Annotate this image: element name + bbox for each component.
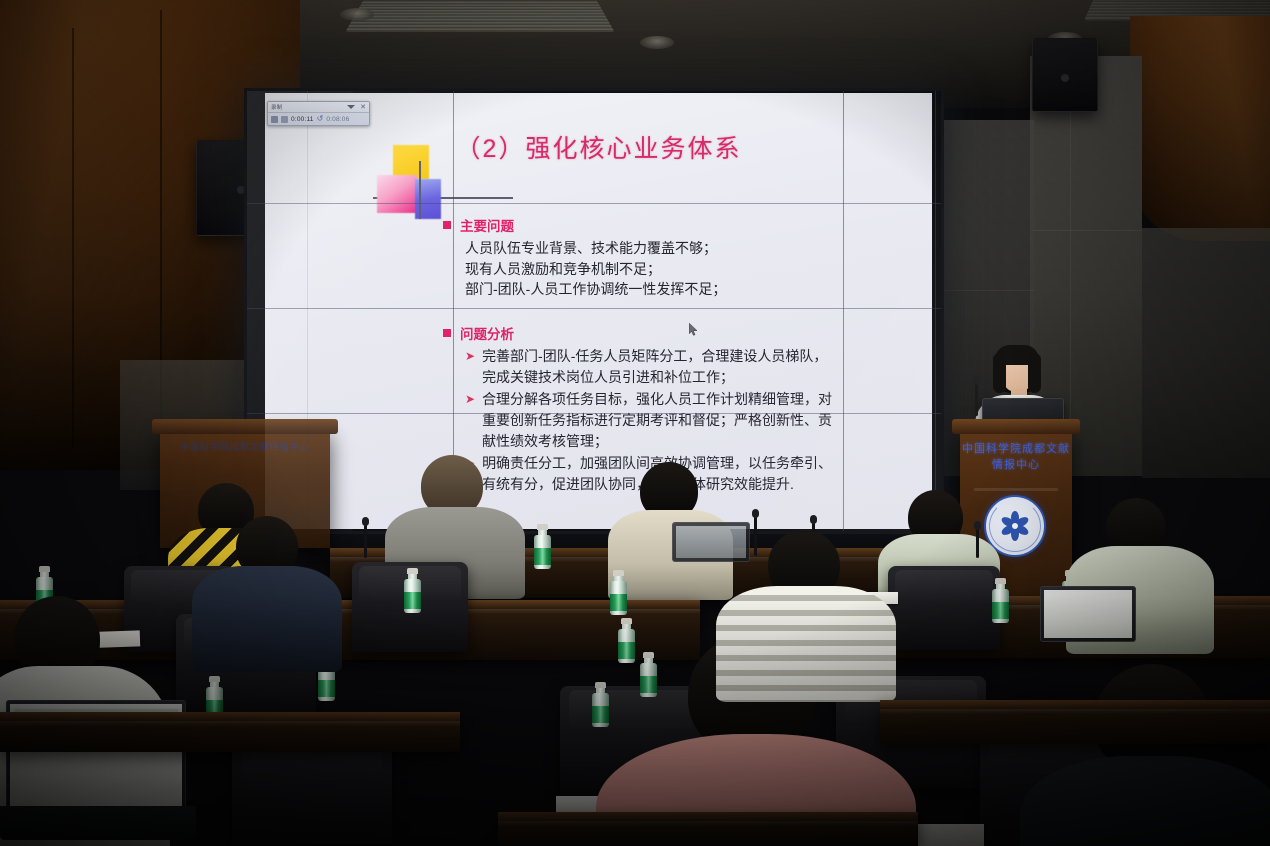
square-bullet-icon [443,329,451,337]
water-bottle [992,578,1009,623]
right-wood-wall [1130,16,1270,241]
downlight-icon [340,8,374,21]
slide-text-line: 合理分解各项任务目标，强化人员工作计划精细管理，对 [482,391,832,407]
slide-text-line: 现有人员激励和竞争机制不足； [465,259,914,280]
microphone-stem [975,382,978,416]
recording-toolbar[interactable]: 录制 ✕ 0:00:11 ↺ 0:08:06 [267,101,370,126]
desk-row-front-center [498,812,918,846]
podium-label: 中国科学院成都文献情报中心 [960,440,1072,472]
slide-text-line: 完成关键技术岗位人员引进和补位工作； [482,369,734,385]
water-bottle [404,568,421,613]
desk-row-front-right [880,700,1270,744]
total-time: 0:08:06 [326,116,349,123]
attendee-laptop [672,522,750,562]
emblem-petals [1000,511,1030,541]
slide-bullet-item: ➤ 合理分解各项任务目标，强化人员工作计划精细管理，对 重要创新任务指标进行定期… [465,389,914,452]
undo-icon[interactable]: ↺ [317,115,324,123]
chevron-down-icon[interactable] [347,105,355,109]
audience-person-foreground [1020,664,1270,846]
arrow-bullet-icon: ➤ [465,389,475,452]
audience-person [192,516,342,656]
recording-toolbar-titlebar[interactable]: 录制 ✕ [268,102,369,113]
attendee-laptop-base [0,806,196,840]
pause-icon[interactable] [281,116,288,123]
attendee-laptop [1040,586,1136,642]
elapsed-time: 0:00:11 [291,116,314,123]
wall-speaker-icon [1032,38,1098,112]
mouse-cursor-icon [689,323,698,336]
close-icon[interactable]: ✕ [360,104,366,111]
slide-title: （2）强化核心业务体系 [265,129,932,165]
ceiling-vent-icon [346,0,615,31]
record-icon[interactable] [271,116,278,123]
slide-text-line: 完善部门-团队-任务人员矩阵分工，合理建设人员梯队， [482,348,827,364]
projection-video-wall: （2）强化核心业务体系 主要问题 人员队伍专业背景、技术能力覆盖不够； 现有人员… [244,88,944,534]
slide-text-line: 献性绩效考核管理； [482,433,608,449]
water-bottle [534,524,551,569]
desk-microphone [976,528,979,558]
conference-room-photo: （2）强化核心业务体系 主要问题 人员队伍专业背景、技术能力覆盖不够； 现有人员… [0,0,1270,846]
recording-toolbar-title: 录制 [271,103,283,111]
section-heading-text: 主要问题 [460,215,514,235]
desk-microphone [364,524,367,558]
podium-label: 中国科学院成都文献情报中心 [160,440,330,453]
section-heading-text: 问题分析 [460,323,514,343]
wall-panel [1142,228,1270,478]
presentation-slide: （2）强化核心业务体系 主要问题 人员队伍专业背景、技术能力覆盖不够； 现有人员… [265,93,932,529]
slide-text-line: 重要创新任务指标进行定期考评和督促；严格创新性、贡 [482,412,832,428]
slide-bullet-item: ➤ 完善部门-团队-任务人员矩阵分工，合理建设人员梯队， 完成关键技术岗位人员引… [465,346,914,388]
slide-text-line: 人员队伍专业背景、技术能力覆盖不够； [465,238,914,259]
podium-top-surface [152,419,338,434]
water-bottle [610,570,627,615]
desk-row-front-left [0,712,460,752]
square-bullet-icon [443,221,451,229]
arrow-bullet-icon: ➤ [465,346,475,388]
podium-top-surface [952,419,1080,434]
microphone-head-icon [973,376,980,385]
slide-text-line: 部门-团队-人员工作协调统一性发挥不足； [465,279,914,300]
downlight-icon [640,36,674,49]
